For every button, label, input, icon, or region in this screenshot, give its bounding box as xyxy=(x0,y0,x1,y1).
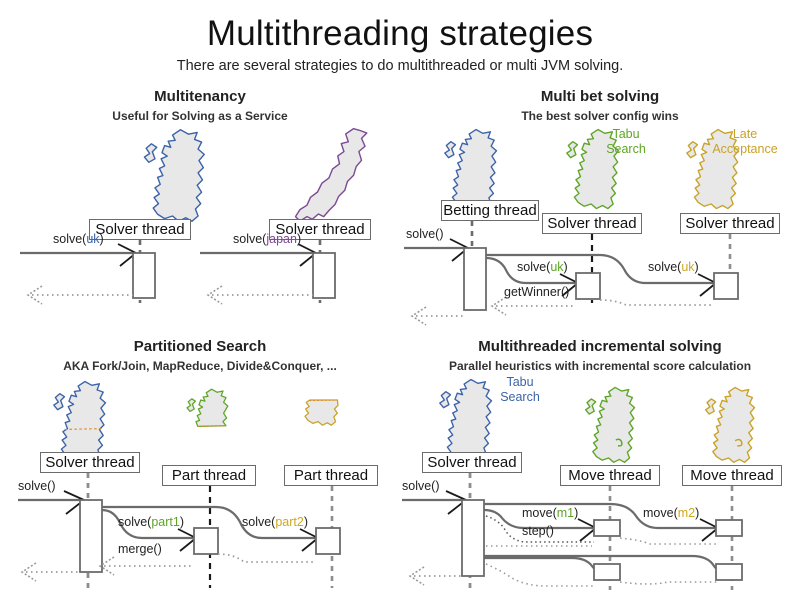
caption-tabu-search: Tabu Search xyxy=(576,127,676,157)
uk-map-part2 xyxy=(305,400,338,425)
caption-tabu-search: Tabu Search xyxy=(470,375,570,405)
caption-late-acceptance: Late Acceptance xyxy=(690,127,800,157)
lifeline-header-part-thread[interactable]: Part thread xyxy=(284,465,378,486)
activation-box xyxy=(576,273,600,299)
activation-box xyxy=(313,253,335,298)
return-arrow-head xyxy=(492,297,506,315)
lifeline-header-part-thread[interactable]: Part thread xyxy=(162,465,256,486)
message-label-solve-part2: solve(part2) xyxy=(242,515,308,529)
message-label-solve: solve() xyxy=(406,227,444,241)
uk-map xyxy=(706,387,755,462)
activation-box xyxy=(194,528,218,554)
message-label-move-m1: move(m1) xyxy=(522,506,578,520)
activation-box xyxy=(80,500,102,572)
uk-map-part1 xyxy=(187,389,228,426)
lifeline-header-solver-thread[interactable]: Solver thread xyxy=(89,219,191,240)
message-label-solve-japan: solve(japan) xyxy=(233,232,301,246)
panel-multi-bet-solving: Multi bet solving The best solver config… xyxy=(400,88,800,343)
activation-box xyxy=(464,248,486,310)
lifeline-header-solver-thread[interactable]: Solver thread xyxy=(40,452,140,473)
return-line xyxy=(600,300,714,305)
return-line xyxy=(486,564,594,586)
call-arrow-line xyxy=(484,558,606,572)
message-label-step: step() xyxy=(522,524,554,538)
message-label-solve-uk-green: solve(uk) xyxy=(517,260,568,274)
panel-multitenancy: Multitenancy Useful for Solving as a Ser… xyxy=(0,88,400,343)
message-label-getwinner: getWinner() xyxy=(504,285,569,299)
lifeline-header-betting-thread[interactable]: Betting thread xyxy=(441,200,539,221)
page-title: Multithreading strategies xyxy=(0,14,800,54)
panel-1-graphics xyxy=(0,88,400,343)
lifeline-header-solver-thread[interactable]: Solver thread xyxy=(542,213,642,234)
lifeline-header-move-thread[interactable]: Move thread xyxy=(682,465,782,486)
lifeline-header-solver-thread[interactable]: Solver thread xyxy=(680,213,780,234)
diagram-canvas: Multithreading strategies There are seve… xyxy=(0,0,800,600)
activation-box xyxy=(133,253,155,298)
uk-map xyxy=(586,387,635,462)
activation-box xyxy=(714,273,738,299)
panel-partitioned-search: Partitioned Search AKA Fork/Join, MapRed… xyxy=(0,338,400,593)
return-arrow-head xyxy=(28,286,42,304)
activation-box xyxy=(716,520,742,536)
uk-map xyxy=(54,382,106,461)
activation-box xyxy=(716,564,742,580)
lifeline-header-move-thread[interactable]: Move thread xyxy=(560,465,660,486)
activation-box xyxy=(316,528,340,554)
message-label-solve: solve() xyxy=(18,479,56,493)
return-arrow-head xyxy=(410,567,424,585)
uk-map xyxy=(144,130,204,222)
message-label-merge: merge() xyxy=(118,542,162,556)
page-subtitle: There are several strategies to do multi… xyxy=(0,58,800,74)
message-label-solve-uk-gold: solve(uk) xyxy=(648,260,699,274)
return-line xyxy=(218,554,316,562)
return-arrow-head xyxy=(22,563,36,581)
panel-multithreaded-incremental-solving: Multithreaded incremental solving Parall… xyxy=(400,338,800,593)
return-line xyxy=(620,582,718,584)
return-arrow-head xyxy=(208,286,222,304)
message-label-solve: solve() xyxy=(402,479,440,493)
japan-map xyxy=(296,129,367,221)
return-arrow-head xyxy=(412,307,426,325)
activation-box xyxy=(594,520,620,536)
message-label-move-m2: move(m2) xyxy=(643,506,699,520)
activation-box xyxy=(594,564,620,580)
message-label-solve-uk: solve(uk) xyxy=(53,232,104,246)
lifeline-header-solver-thread[interactable]: Solver thread xyxy=(422,452,522,473)
uk-map xyxy=(445,130,497,209)
message-label-solve-part1: solve(part1) xyxy=(118,515,184,529)
activation-box xyxy=(462,500,484,576)
